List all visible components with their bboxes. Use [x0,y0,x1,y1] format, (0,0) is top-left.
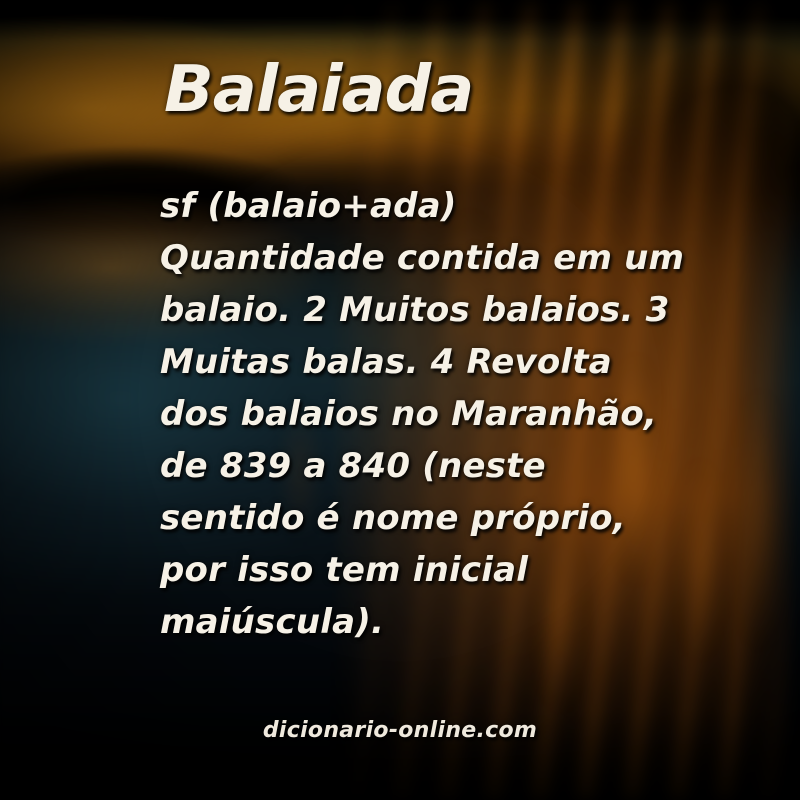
definition-text: sf (balaio+ada) Quantidade contida em um… [160,180,680,648]
card-content: Balaiada sf (balaio+ada) Quantidade cont… [0,0,800,800]
definition-line: dos balaios no Maranhão, [160,388,680,440]
definition-card: Balaiada sf (balaio+ada) Quantidade cont… [0,0,800,800]
definition-line: sentido é nome próprio, [160,492,680,544]
definition-line: sf (balaio+ada) [160,180,680,232]
word-title: Balaiada [164,58,473,122]
definition-line: Muitas balas. 4 Revolta [160,336,680,388]
definition-line: balaio. 2 Muitos balaios. 3 [160,284,680,336]
definition-line: por isso tem inicial [160,544,680,596]
definition-line: de 839 a 840 (neste [160,440,680,492]
site-watermark: dicionario-online.com [0,716,800,746]
definition-line: maiúscula). [160,596,680,648]
definition-line: Quantidade contida em um [160,232,680,284]
